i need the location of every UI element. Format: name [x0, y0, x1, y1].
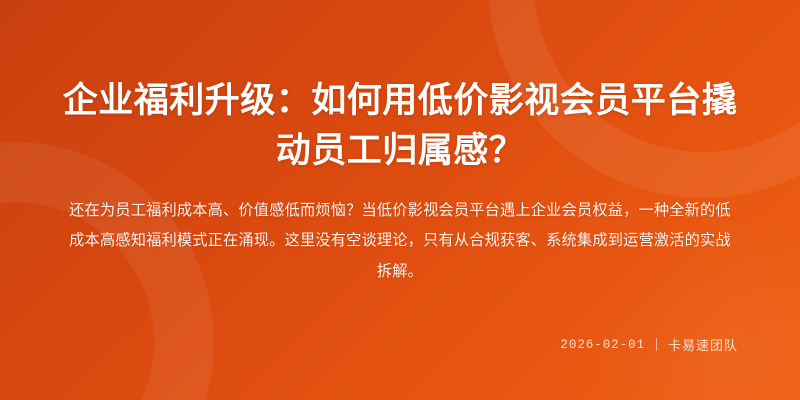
cover-card: 企业福利升级：如何用低价影视会员平台撬动员工归属感？ 还在为员工福利成本高、价值… [0, 0, 800, 400]
publish-date: 2026-02-01 [560, 338, 645, 352]
meta-separator [656, 338, 657, 351]
page-title: 企业福利升级：如何用低价影视会员平台撬动员工归属感？ [62, 0, 738, 175]
cover-meta: 2026-02-01 卡易速团队 [560, 335, 738, 354]
page-subtitle: 还在为员工福利成本高、价值感低而烦恼？当低价影视会员平台遇上企业会员权益，一种全… [62, 175, 738, 286]
author-name: 卡易速团队 [668, 335, 738, 354]
